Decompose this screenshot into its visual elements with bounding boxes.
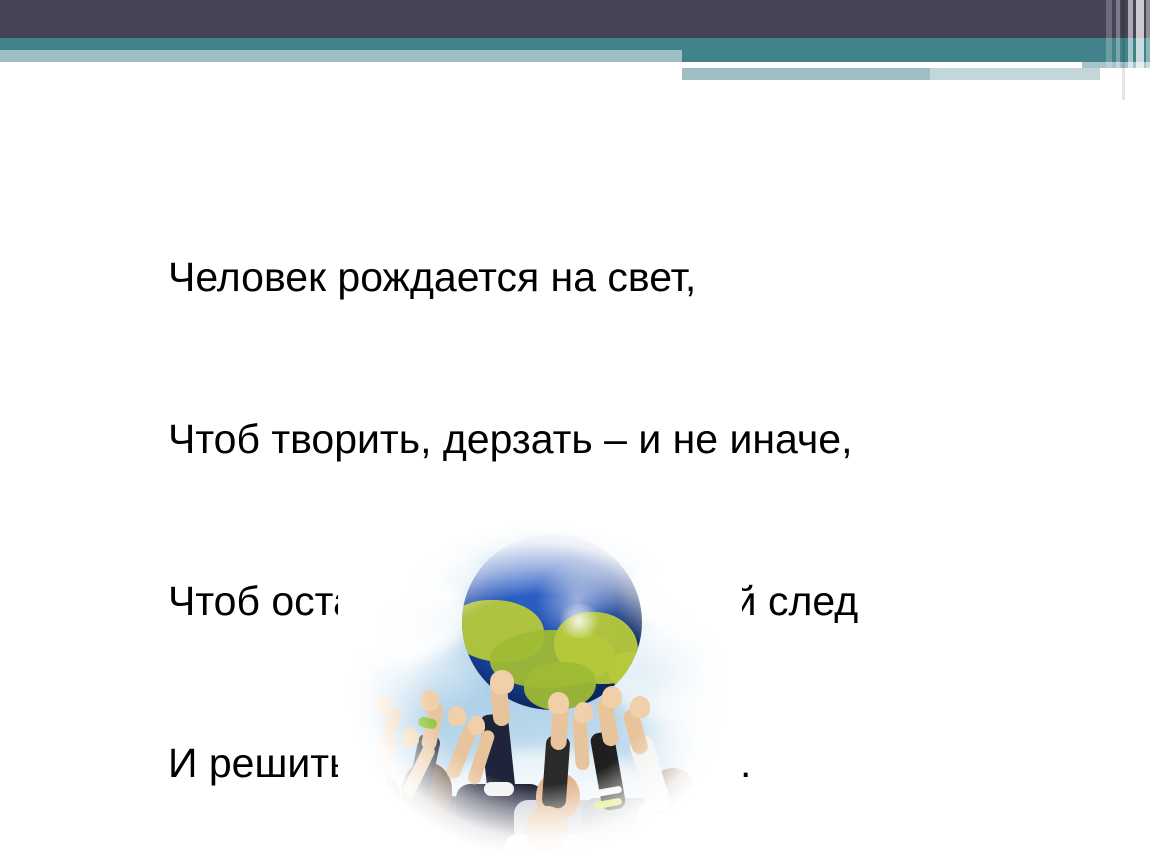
person-3-cuff (484, 782, 514, 796)
person-3-hand (490, 670, 514, 694)
crowd (338, 688, 742, 864)
banner-vstripe-2 (1116, 0, 1120, 100)
person-2-hand (420, 690, 439, 711)
extra-hand-2 (468, 716, 485, 735)
extra-hand-1 (448, 706, 466, 726)
header-banner (0, 0, 1150, 100)
person-1-hand (374, 696, 392, 716)
banner-band-lower-right (930, 68, 1100, 80)
banner-vertical-stripes (1098, 0, 1150, 100)
person-4-hand (548, 692, 569, 714)
extra-hand-4 (402, 728, 419, 747)
banner-band-teal-right (682, 50, 1150, 62)
banner-band-dark (0, 0, 1150, 38)
globe-photo (338, 516, 742, 864)
globe (462, 534, 642, 710)
person-6-hand (602, 686, 622, 708)
banner-band-teal (0, 38, 1150, 50)
slide-canvas: Человек рождается на свет, Чтоб творить,… (0, 0, 1150, 864)
banner-vstripe-6 (1146, 0, 1150, 100)
person-7-hand (630, 696, 650, 718)
banner-vstripe-1 (1106, 0, 1112, 100)
banner-band-light-left (0, 50, 682, 62)
globe-photo-content (338, 516, 742, 864)
banner-vstripe-3 (1122, 0, 1125, 100)
extra-hand-3 (574, 702, 593, 723)
banner-band-lower-left (682, 68, 930, 80)
poem-line-1: Человек рождается на свет, (168, 250, 1088, 304)
banner-vstripe-5 (1136, 0, 1144, 100)
poem-line-2: Чтоб творить, дерзать – и не иначе, (168, 412, 1088, 466)
globe-highlight (556, 604, 602, 638)
banner-vstripe-4 (1128, 0, 1133, 100)
person-5-head (526, 806, 568, 852)
